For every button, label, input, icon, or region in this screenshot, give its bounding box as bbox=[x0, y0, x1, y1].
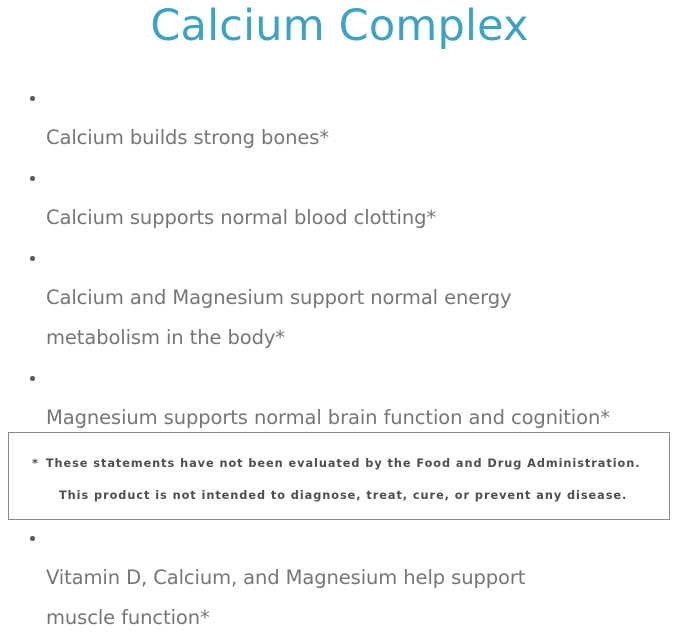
page-title: Calcium Complex bbox=[0, 0, 679, 54]
benefit-text: Magnesium supports normal brain function… bbox=[46, 406, 610, 429]
disclaimer-text-1: These statements have not been evaluated… bbox=[46, 457, 641, 470]
benefit-text: Calcium builds strong bones* bbox=[46, 126, 329, 149]
list-item: Calcium supports normal blood clotting* bbox=[28, 158, 668, 238]
disclaimer-line-1: *These statements have not been evaluate… bbox=[32, 457, 641, 470]
fda-disclaimer-box: *These statements have not been evaluate… bbox=[8, 432, 670, 520]
list-item: Calcium builds strong bones* bbox=[28, 78, 668, 158]
asterisk-marker: * bbox=[32, 457, 39, 470]
benefits-list: Calcium builds strong bones* Calcium sup… bbox=[28, 78, 668, 638]
benefit-text: Calcium and Magnesium support normal ene… bbox=[46, 286, 511, 349]
benefit-text: Vitamin D, Calcium, and Magnesium help s… bbox=[46, 566, 525, 629]
product-benefits-panel: Calcium Complex Calcium builds strong bo… bbox=[0, 0, 679, 526]
list-item: Vitamin D, Calcium, and Magnesium help s… bbox=[28, 518, 668, 638]
list-item: Calcium and Magnesium support normal ene… bbox=[28, 238, 668, 358]
list-item: Magnesium supports normal brain function… bbox=[28, 358, 668, 438]
benefit-text: Calcium supports normal blood clotting* bbox=[46, 206, 436, 229]
disclaimer-line-2: This product is not intended to diagnose… bbox=[59, 489, 627, 502]
